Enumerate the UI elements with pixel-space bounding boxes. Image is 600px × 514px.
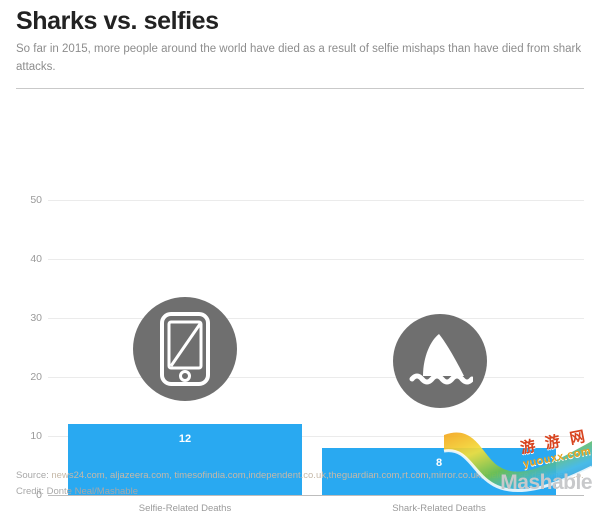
- gridline-30: [48, 318, 584, 319]
- category-label-selfie: Selfie-Related Deaths: [139, 503, 231, 514]
- source-prefix: Source:: [16, 470, 49, 481]
- ytick-label-20: 20: [16, 371, 42, 383]
- ytick-label-30: 30: [16, 312, 42, 324]
- smartphone-icon: [133, 297, 237, 401]
- credit-line: Credit: Donte Neal/Mashable: [16, 484, 584, 501]
- page-title: Sharks vs. selfies: [16, 8, 584, 34]
- ytick-label-50: 50: [16, 194, 42, 206]
- ytick-label-40: 40: [16, 253, 42, 265]
- chart-header: Sharks vs. selfies So far in 2015, more …: [0, 0, 600, 77]
- site-watermark: 游 游 网 yuouxx.com: [518, 425, 592, 471]
- bar-value-label: 12: [68, 433, 302, 445]
- ytick-label-10: 10: [16, 430, 42, 442]
- bar-chart-plot: 50 40 30 20 10 0 12 8 Selfie-Related Dea…: [0, 89, 600, 419]
- mashable-wordmark: Mashable: [500, 471, 592, 495]
- gridline-40: [48, 259, 584, 260]
- chart-subtitle: So far in 2015, more people around the w…: [16, 41, 582, 77]
- category-label-shark: Shark-Related Deaths: [392, 503, 485, 514]
- gridline-20: [48, 377, 584, 378]
- shark-fin-icon: [393, 314, 487, 408]
- source-line: Source: news24.com, aljazeera.com, times…: [16, 468, 584, 485]
- gridline-50: [48, 200, 584, 201]
